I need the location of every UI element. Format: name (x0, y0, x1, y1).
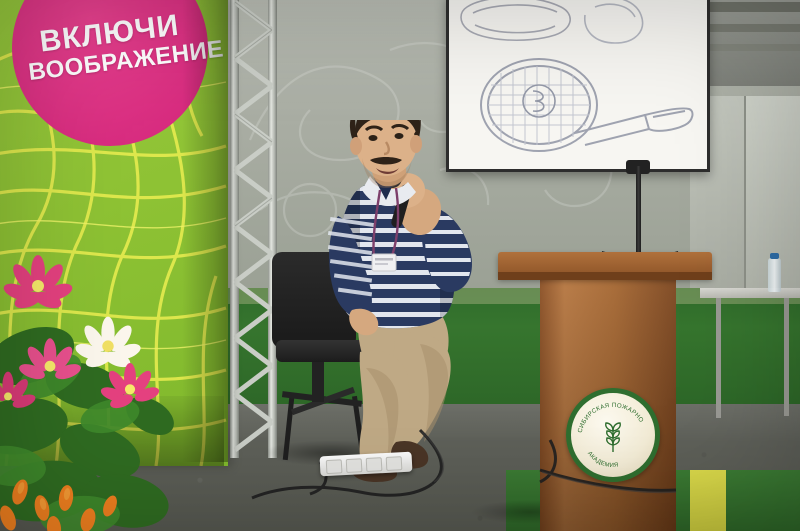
stage-front-panel-green-2 (726, 470, 800, 531)
side-table (700, 288, 800, 298)
ceiling-beam-3 (706, 44, 800, 51)
table-leg-right (784, 298, 789, 416)
power-strip-socket-1[interactable] (326, 459, 343, 474)
ceiling-beam-1 (700, 2, 800, 12)
water-bottle (768, 258, 781, 292)
podium-top-edge (498, 272, 712, 280)
photo-scene: СИБИРСКАЯ ПОЖАРНО АКАДЕМИЯ (0, 0, 800, 531)
power-strip-socket-3[interactable] (366, 457, 383, 472)
water-bottle-cap (770, 253, 779, 259)
stage-front-panel-yellow (690, 470, 726, 531)
table-leg-left (716, 298, 721, 418)
ceiling-beam-2 (700, 24, 800, 32)
power-strip-socket-2[interactable] (346, 458, 363, 473)
power-strip-socket-4[interactable] (386, 456, 403, 471)
